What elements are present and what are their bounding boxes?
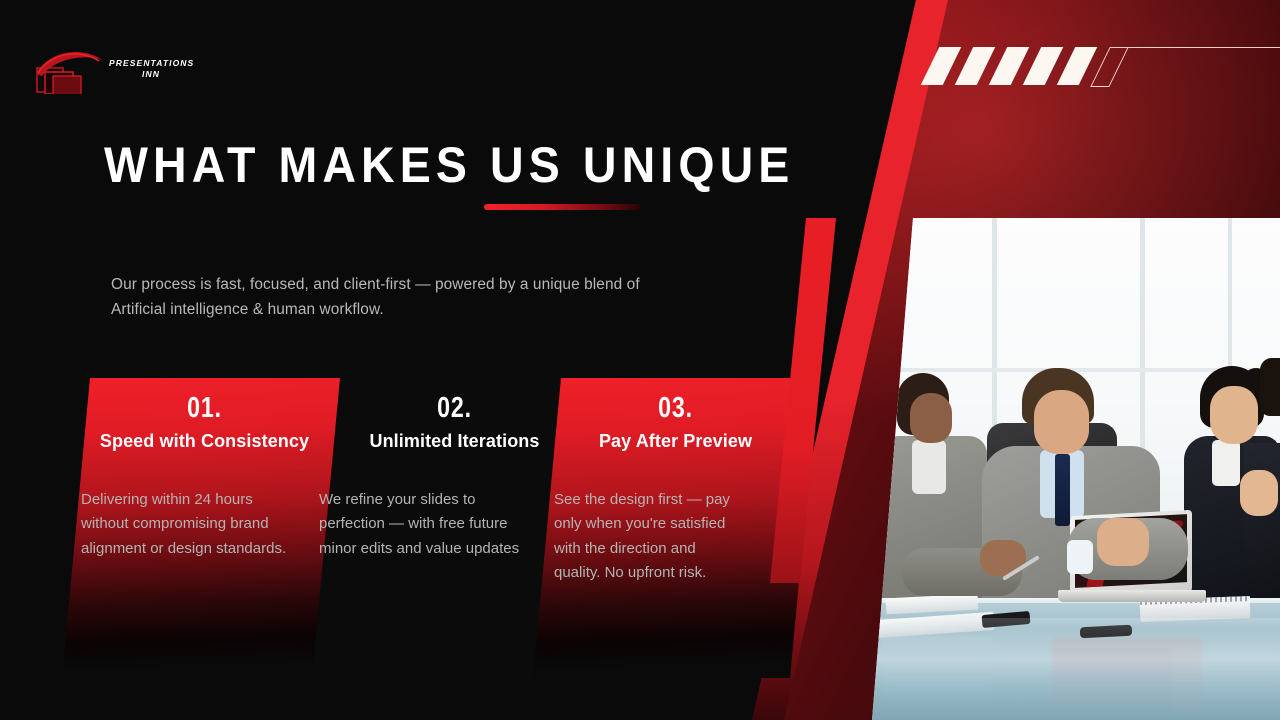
person-left-shirt <box>912 440 946 494</box>
person-far-right-hair <box>1260 358 1280 416</box>
slide-canvas: PRESENTATIONS INN WHAT MAKES US UNIQUE O… <box>0 0 1280 720</box>
feature-card-03[interactable]: 03. Pay After Preview See the design fir… <box>533 378 818 678</box>
person-center-tie <box>1055 454 1070 526</box>
person-right-face <box>1210 386 1258 444</box>
person-right-shirt <box>1212 440 1240 486</box>
person-center-hand <box>1097 518 1149 566</box>
table-glass-gloss <box>872 618 1280 720</box>
person-right-hand <box>1240 470 1278 516</box>
laptop-base <box>1058 590 1206 602</box>
person-center-cuff <box>1067 540 1093 574</box>
card-title: Speed with Consistency <box>62 430 347 452</box>
card-number: 03. <box>562 392 790 425</box>
card-body: Delivering within 24 hours without compr… <box>81 488 296 561</box>
card-body: See the design first — pay only when you… <box>554 488 744 586</box>
person-far-right-body <box>1244 443 1280 608</box>
person-left-face <box>910 393 952 443</box>
card-body: We refine your slides to perfection — wi… <box>319 488 529 561</box>
card-number: 01. <box>91 392 319 425</box>
feature-card-01[interactable]: 01. Speed with Consistency Delivering wi… <box>62 378 347 678</box>
person-center-face <box>1034 390 1089 454</box>
card-title: Pay After Preview <box>533 430 818 452</box>
meeting-photo: STRUGGLING WITH SLIDES? WE HANDLE IT DES… <box>872 218 1280 720</box>
